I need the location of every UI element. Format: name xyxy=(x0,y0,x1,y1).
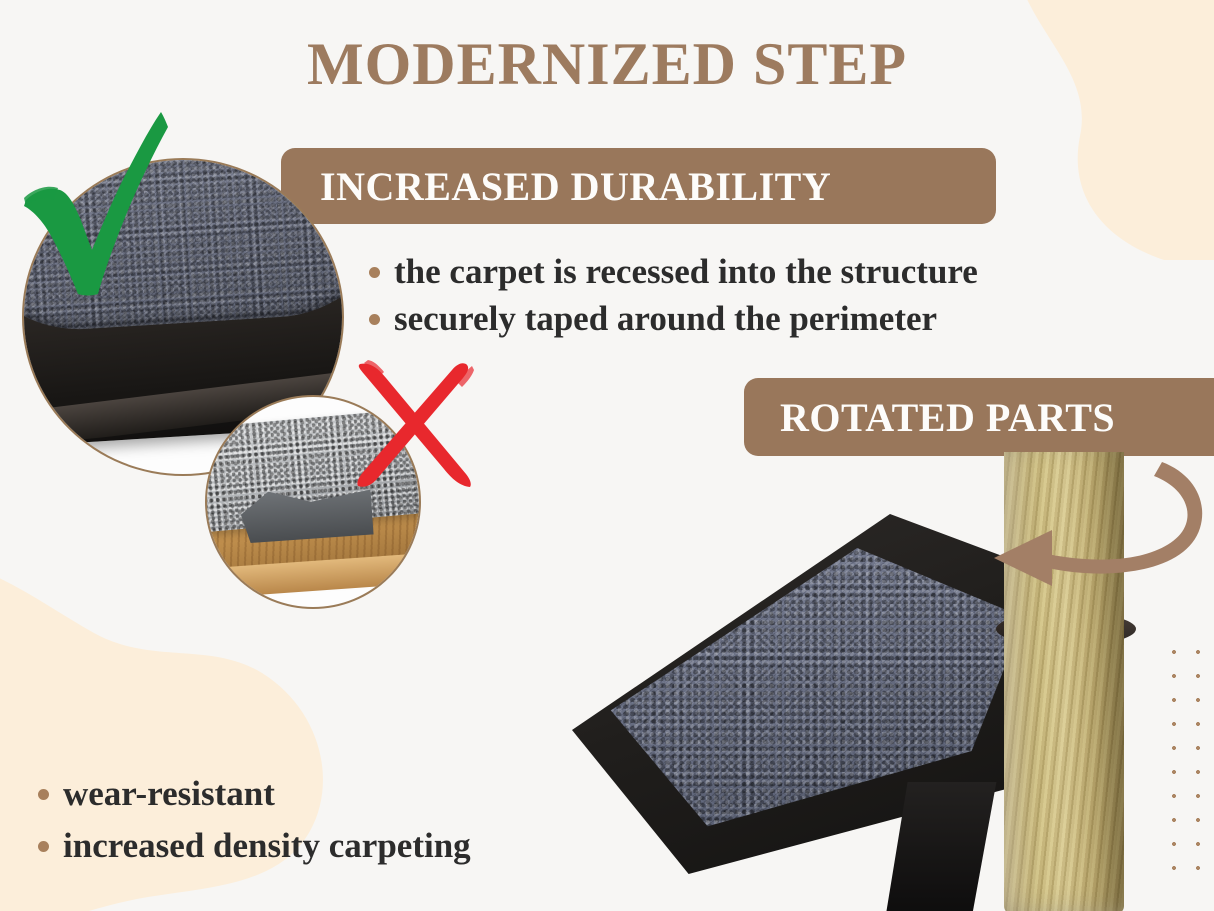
banner-rotated-parts-label: ROTATED PARTS xyxy=(780,394,1115,441)
list-item: wear-resistant xyxy=(38,768,471,820)
list-item: securely taped around the perimeter xyxy=(369,295,978,342)
quality-bullet-text: increased density carpeting xyxy=(63,820,471,872)
page-title: MODERNIZED STEP xyxy=(0,32,1214,96)
bullet-dot-icon xyxy=(38,841,49,852)
feature-bullet-text: the carpet is recessed into the structur… xyxy=(394,248,978,295)
pine-board-face xyxy=(207,553,419,600)
quality-bullet-list: wear-resistant increased density carpeti… xyxy=(38,768,471,872)
bullet-dot-icon xyxy=(369,267,380,278)
bullet-dot-icon xyxy=(38,789,49,800)
bullet-dot-icon xyxy=(369,314,380,325)
rotate-arrow-icon xyxy=(956,452,1214,626)
banner-rotated-parts: ROTATED PARTS xyxy=(744,378,1214,456)
product-photo-cat-tree-step xyxy=(556,452,1214,911)
quality-bullet-text: wear-resistant xyxy=(63,768,275,820)
green-check-icon xyxy=(18,108,168,298)
feature-bullet-text: securely taped around the perimeter xyxy=(394,295,937,342)
feature-bullet-list: the carpet is recessed into the structur… xyxy=(369,248,978,342)
infographic-canvas: MODERNIZED STEP INCREASED DURABILITY ROT… xyxy=(0,0,1214,911)
list-item: increased density carpeting xyxy=(38,820,471,872)
list-item: the carpet is recessed into the structur… xyxy=(369,248,978,295)
red-cross-icon xyxy=(348,358,478,488)
banner-increased-durability: INCREASED DURABILITY xyxy=(281,148,996,224)
banner-increased-durability-label: INCREASED DURABILITY xyxy=(320,163,831,210)
